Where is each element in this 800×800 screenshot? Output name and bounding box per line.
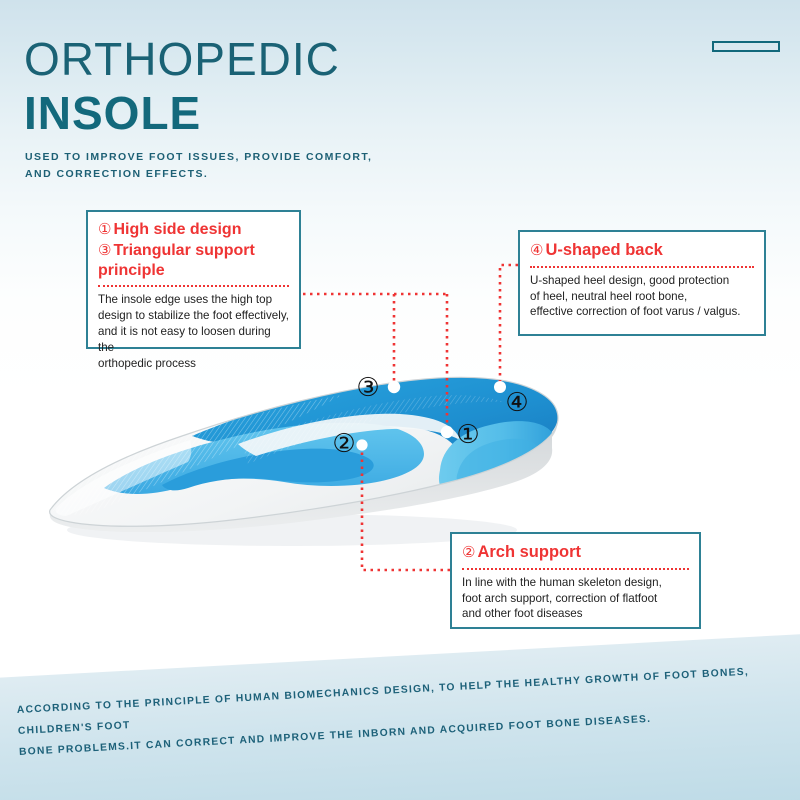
- title-line-1: ORTHOPEDIC: [24, 36, 340, 82]
- callout-1-heading-2: ③Triangular support principle: [98, 241, 289, 281]
- rectangle-outline-icon: [712, 41, 780, 52]
- page-title: ORTHOPEDIC INSOLE: [24, 36, 340, 140]
- callout-box-u-shaped-back[interactable]: ④U-shaped back U-shaped heel design, goo…: [518, 230, 766, 336]
- callout-4-heading-1: ④U-shaped back: [530, 240, 754, 261]
- callout-2-body: In line with the human skeleton design, …: [462, 575, 689, 622]
- callout-4-body: U-shaped heel design, good protection of…: [530, 273, 754, 320]
- infographic-page: ORTHOPEDIC INSOLE USED TO IMPROVE FOOT I…: [0, 0, 800, 800]
- callout-box-high-side-design[interactable]: ①High side design ③Triangular support pr…: [86, 210, 301, 349]
- callout-4-heading-1-text: U-shaped back: [545, 241, 662, 259]
- callout-1-heading-2-text: Triangular support principle: [98, 242, 255, 279]
- callout-1-body: The insole edge uses the high top design…: [98, 292, 289, 371]
- callout-1-divider: [98, 285, 289, 287]
- title-line-2: INSOLE: [24, 88, 340, 140]
- insole-product-image: [42, 352, 572, 557]
- callout-2-heading-1-text: Arch support: [477, 543, 581, 561]
- callout-1-headings: ①High side design ③Triangular support pr…: [98, 220, 289, 281]
- callout-1-heading-1-text: High side design: [113, 221, 241, 238]
- callout-2-headings: ②Arch support: [462, 542, 689, 563]
- callout-2-heading-1: ②Arch support: [462, 542, 689, 563]
- callout-4-number-1: ④: [530, 242, 543, 259]
- callout-1-number-2: ③: [98, 242, 111, 259]
- callout-box-arch-support[interactable]: ②Arch support In line with the human ske…: [450, 532, 701, 629]
- page-subtitle: USED TO IMPROVE FOOT ISSUES, PROVIDE COM…: [25, 149, 372, 184]
- callout-2-number-1: ②: [462, 544, 475, 561]
- callout-2-divider: [462, 568, 689, 570]
- callout-4-divider: [530, 266, 754, 268]
- callout-1-number-1: ①: [98, 221, 111, 238]
- callout-4-headings: ④U-shaped back: [530, 240, 754, 261]
- callout-1-heading-1: ①High side design: [98, 220, 289, 240]
